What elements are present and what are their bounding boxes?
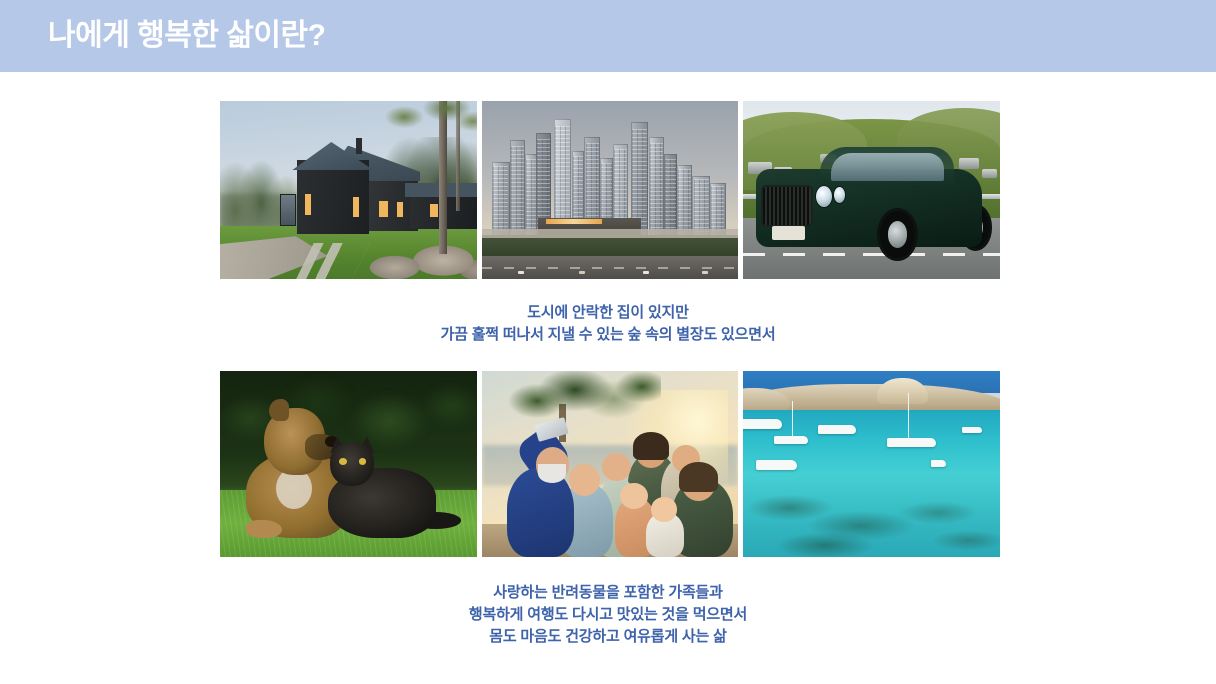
- luxury-car-illustration: [743, 101, 1000, 279]
- tower: [692, 176, 710, 237]
- tower: [677, 165, 692, 236]
- highway-car: [643, 271, 649, 274]
- reef-shadows: [743, 475, 1000, 557]
- cat-head: [330, 442, 374, 487]
- road-marking: [743, 253, 1000, 256]
- title-banner: 나에게 행복한 삶이란?: [0, 0, 1216, 72]
- photo-row-two: [220, 371, 1000, 557]
- cat-eye: [339, 458, 347, 465]
- headlight: [815, 185, 833, 208]
- caption-line: 도시에 안락한 집이 있지만: [0, 302, 1216, 324]
- tree-canopy: [502, 371, 661, 431]
- lit-window: [397, 202, 403, 216]
- lit-window: [430, 204, 438, 216]
- yacht: [818, 425, 857, 434]
- license-plate: [772, 226, 805, 240]
- sea-yachts-illustration: [743, 371, 1000, 557]
- stone-wall: [364, 240, 477, 279]
- sailboat-mast: [792, 401, 793, 438]
- yacht: [774, 436, 807, 443]
- highway-car: [702, 271, 708, 274]
- person-head: [569, 464, 600, 496]
- chimney: [356, 138, 362, 154]
- luxury-car-photo: [743, 101, 1000, 279]
- pets-photo: [220, 371, 477, 557]
- highway-car: [579, 271, 585, 274]
- yacht: [887, 438, 936, 447]
- photo-row-one: [220, 101, 1000, 279]
- tower: [649, 137, 664, 237]
- person-head: [602, 453, 630, 481]
- tower: [492, 162, 510, 237]
- caption-second: 사랑하는 반려동물을 포함한 가족들과 행복하게 여행도 다시고 맛있는 것을 …: [0, 582, 1216, 648]
- caption-line: 사랑하는 반려동물을 포함한 가족들과: [0, 582, 1216, 604]
- city-skyline-illustration: [482, 101, 739, 279]
- caption-line: 몸도 마음도 건강하고 여유롭게 사는 삶: [0, 626, 1216, 648]
- family-selfie-illustration: [482, 371, 739, 557]
- yacht: [756, 460, 797, 469]
- dog-paw: [246, 520, 282, 539]
- front-grille: [761, 185, 812, 228]
- lit-window: [379, 201, 388, 217]
- yacht: [962, 427, 983, 434]
- pets-illustration: [220, 371, 477, 557]
- dog-ear: [269, 399, 290, 421]
- cat-eye: [359, 458, 367, 465]
- person-head: [620, 483, 648, 509]
- caption-first: 도시에 안락한 집이 있지만 가끔 훌쩍 떠나서 지낼 수 있는 숲 속의 별장…: [0, 302, 1216, 346]
- person-hair: [679, 462, 718, 492]
- windshield: [831, 153, 944, 181]
- hillside-building: [959, 158, 980, 169]
- forest-cabin-photo: [220, 101, 477, 279]
- highway-car: [518, 271, 524, 274]
- tower: [664, 154, 677, 236]
- person-head: [651, 497, 677, 521]
- sea-yachts-photo: [743, 371, 1000, 557]
- caption-line: 가끔 훌쩍 떠나서 지낼 수 있는 숲 속의 별장도 있으면서: [0, 324, 1216, 346]
- rock-peak: [877, 378, 928, 404]
- front-wheel: [877, 208, 918, 261]
- caption-line: 행복하게 여행도 다시고 맛있는 것을 먹으면서: [0, 604, 1216, 626]
- service-road: [482, 229, 739, 238]
- forest-cabin-illustration: [220, 101, 477, 279]
- person-hair: [633, 432, 669, 460]
- tree-canopy: [369, 101, 477, 144]
- yacht: [743, 419, 782, 428]
- podium-signage: [546, 219, 602, 223]
- glass-door: [280, 194, 295, 226]
- tower: [510, 140, 525, 236]
- family-selfie-photo: [482, 371, 739, 557]
- hillside-building: [982, 169, 997, 178]
- person-body: [507, 468, 574, 557]
- person-beard: [538, 464, 566, 483]
- highway: [482, 256, 739, 279]
- sailboat-mast: [908, 393, 909, 440]
- city-apartments-photo: [482, 101, 739, 279]
- page-title: 나에게 행복한 삶이란?: [48, 21, 325, 51]
- lit-window: [353, 197, 359, 217]
- yacht: [931, 460, 946, 467]
- lit-window: [305, 194, 311, 215]
